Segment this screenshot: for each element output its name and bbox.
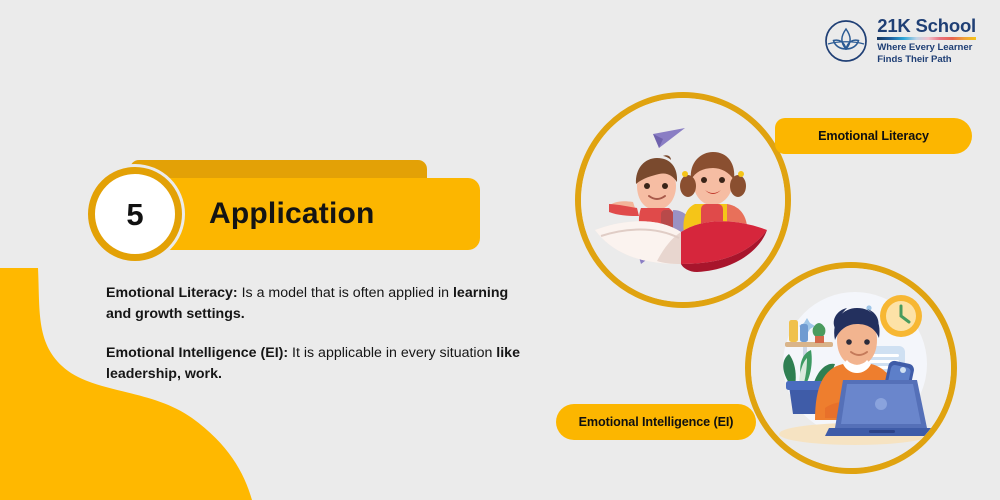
paragraph-2-lead: Emotional Intelligence (EI): — [106, 345, 288, 361]
logo-gradient-rule — [877, 37, 976, 40]
slide-canvas: 21K School Where Every Learner Finds The… — [0, 0, 1000, 500]
kids-on-book-illustration — [581, 98, 785, 302]
logo-text-block: 21K School Where Every Learner Finds The… — [877, 16, 976, 66]
logo-tagline-line2: Finds Their Path — [877, 54, 951, 65]
lotus-circle-icon — [824, 19, 868, 63]
brand-logo: 21K School Where Every Learner Finds The… — [824, 16, 976, 66]
section-number: 5 — [126, 199, 143, 230]
banner-front-layer: Application — [130, 178, 480, 250]
paragraph-emotional-literacy: Emotional Literacy: Is a model that is o… — [106, 283, 526, 324]
logo-title: 21K School — [877, 16, 976, 35]
logo-tagline-line1: Where Every Learner — [877, 42, 972, 53]
logo-tagline: Where Every Learner Finds Their Path — [877, 42, 976, 65]
paragraph-2-normal: It is applicable in every situation — [288, 345, 496, 361]
paragraph-1-lead: Emotional Literacy: — [106, 285, 238, 301]
illustration-kids-on-book — [575, 92, 791, 308]
tag-emotional-intelligence[interactable]: Emotional Intelligence (EI) — [556, 404, 756, 440]
person-at-laptop-illustration — [751, 268, 951, 468]
tag-emotional-literacy[interactable]: Emotional Literacy — [775, 118, 972, 154]
section-title: Application — [209, 197, 375, 231]
tag-emotional-intelligence-label: Emotional Intelligence (EI) — [579, 415, 734, 429]
body-copy: Emotional Literacy: Is a model that is o… — [106, 283, 526, 384]
paragraph-1-normal: Is a model that is often applied in — [238, 285, 453, 301]
section-banner: Application 5 — [88, 160, 488, 260]
section-number-badge: 5 — [88, 167, 182, 261]
tag-emotional-literacy-label: Emotional Literacy — [818, 129, 929, 143]
paragraph-emotional-intelligence: Emotional Intelligence (EI): It is appli… — [106, 343, 526, 384]
illustration-person-at-laptop — [745, 262, 957, 474]
